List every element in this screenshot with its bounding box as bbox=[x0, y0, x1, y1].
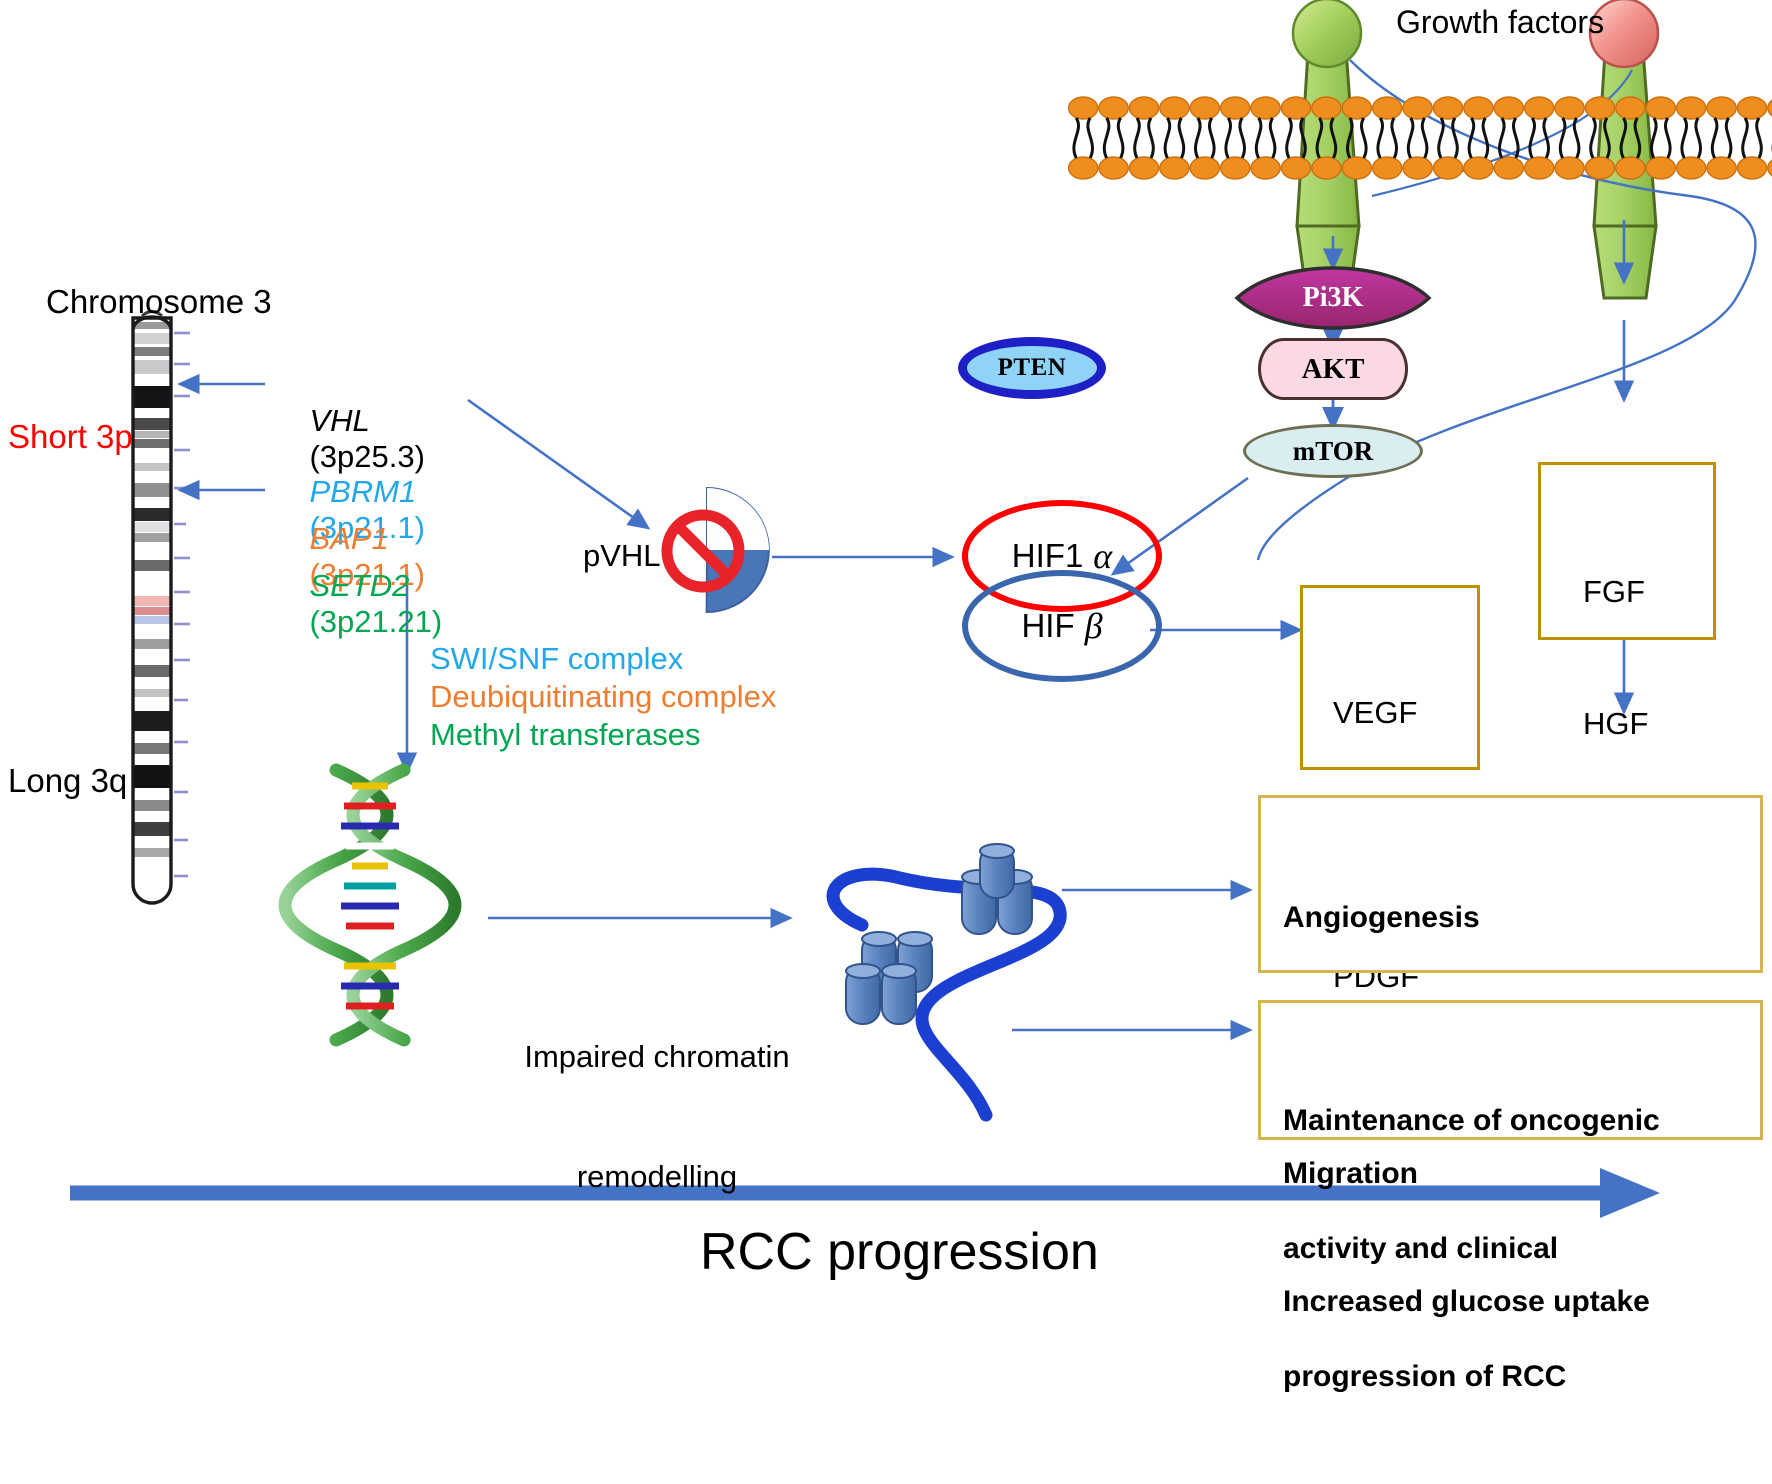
pvhl-label: pVHL bbox=[583, 538, 661, 575]
mtor-node[interactable]: mTOR bbox=[1243, 424, 1423, 478]
vhl-to-pvhl-arrow bbox=[468, 400, 648, 528]
chromatin-to-outcome-arrows bbox=[1012, 890, 1250, 1030]
maintenance-line-2: activity and clinical bbox=[1283, 1228, 1660, 1271]
impaired-line-2: remodelling bbox=[512, 1157, 802, 1197]
hgf-item: HGF bbox=[1583, 702, 1650, 746]
gene-name-setd2: SETD2 bbox=[309, 568, 409, 603]
chromosome-title: Chromosome 3 bbox=[46, 283, 272, 322]
rcc-progression-label: RCC progression bbox=[700, 1222, 1099, 1283]
complex-label-deubiquitinating: Deubiquitinating complex bbox=[430, 679, 776, 716]
maintenance-box-text: Maintenance of oncogenic activity and cl… bbox=[1283, 1015, 1660, 1484]
vegf-item: VEGF bbox=[1333, 691, 1419, 735]
short-arm-label: Short 3p bbox=[8, 418, 133, 457]
gene-pointer-arrows bbox=[180, 384, 265, 490]
akt-node[interactable]: AKT bbox=[1258, 338, 1408, 400]
pten-label: PTEN bbox=[998, 354, 1067, 382]
mtor-label: mTOR bbox=[1293, 436, 1374, 467]
hif1a-label: HIF1 bbox=[1012, 537, 1084, 575]
hifb-label: HIF bbox=[1021, 607, 1074, 645]
hifb-node[interactable]: HIF β bbox=[962, 570, 1162, 682]
receptor-signal-curve-2 bbox=[1372, 70, 1632, 196]
gene-label-setd2: SETD2 (3p21.21) bbox=[275, 531, 442, 677]
growth-factors-label: Growth factors bbox=[1396, 4, 1604, 42]
hifb-greek-symbol: β bbox=[1085, 605, 1103, 647]
maintenance-line-1: Maintenance of oncogenic bbox=[1283, 1100, 1660, 1143]
pvhl-shape bbox=[667, 488, 769, 612]
chromatin-nucleosomes bbox=[833, 844, 1060, 1115]
pi3k-node[interactable]: Pi3K bbox=[1237, 278, 1429, 318]
hif1a-greek-symbol: α bbox=[1093, 535, 1112, 577]
complex-label-swisnf: SWI/SNF complex bbox=[430, 641, 683, 678]
dna-helix bbox=[285, 770, 455, 1040]
outcome-angiogenesis: Angiogenesis bbox=[1283, 897, 1650, 940]
chromosome-ideogram bbox=[133, 312, 190, 904]
receptor-left bbox=[1293, 0, 1361, 298]
diagram-canvas: Chromosome 3 Short 3p Long 3q VHL (3p25.… bbox=[0, 0, 1772, 1296]
gene-name-vhl: VHL bbox=[309, 403, 369, 438]
pten-node[interactable]: PTEN bbox=[958, 337, 1106, 399]
receptor-right bbox=[1590, 0, 1658, 298]
akt-label: AKT bbox=[1302, 353, 1365, 386]
pi3k-label: Pi3K bbox=[1303, 282, 1364, 314]
fgf-item: FGF bbox=[1583, 570, 1650, 614]
maintenance-line-3: progression of RCC bbox=[1283, 1356, 1660, 1399]
gene-locus-setd2: (3p21.21) bbox=[309, 604, 442, 639]
nucleosome-group-bottom bbox=[846, 932, 932, 1024]
nucleosome-group-top bbox=[962, 844, 1032, 934]
long-arm-label: Long 3q bbox=[8, 762, 127, 801]
complex-label-methyltransferases: Methyl transferases bbox=[430, 717, 701, 754]
impaired-line-1: Impaired chromatin bbox=[512, 1037, 802, 1077]
